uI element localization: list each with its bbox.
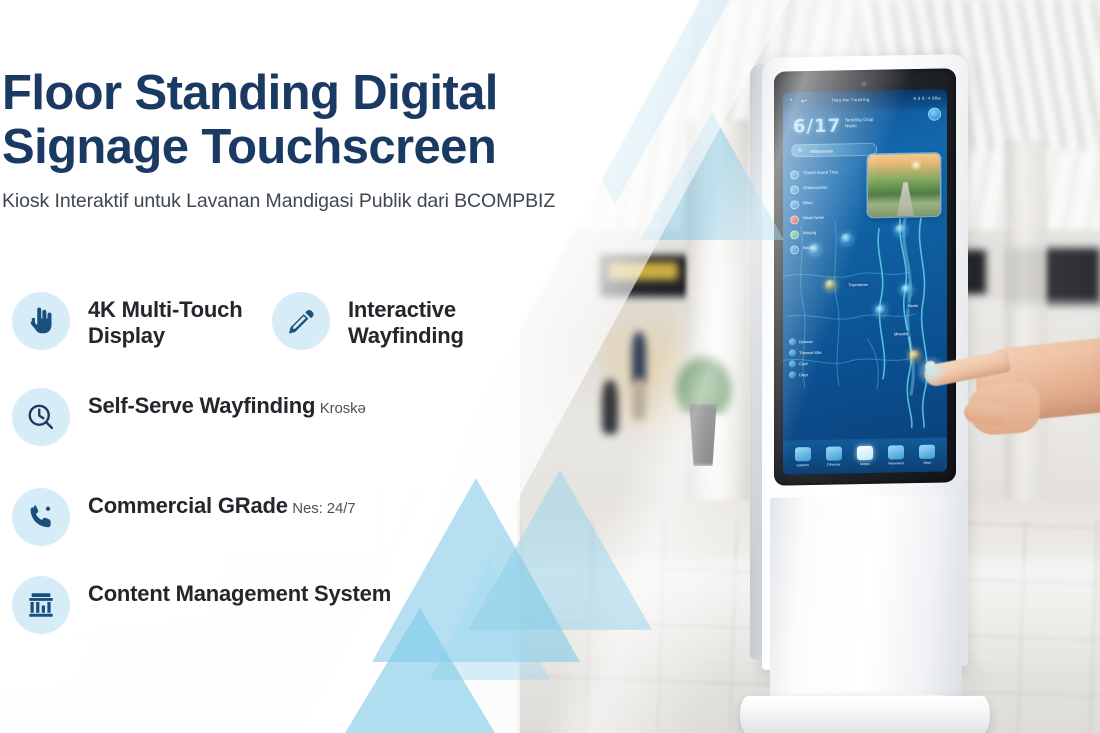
feature-title-line2: Wayfinding (348, 323, 464, 348)
feature-item-content-management-system[interactable]: Content Management System (12, 576, 391, 634)
page-subtitle: Kiosk Interaktif untuk Lavanan Mandigasi… (2, 190, 612, 213)
feature-title: Interactive Wayfinding (348, 297, 464, 348)
pencil-icon (272, 292, 330, 350)
touch-hand-icon (12, 292, 70, 350)
feature-title: 4K Multi-Touch Display (88, 297, 242, 348)
feature-item-self-serve-wayfinding[interactable]: Self-Serve Wayfinding Kroskə (12, 388, 366, 446)
feature-subtitle: Kroskə (320, 400, 366, 417)
headline-line-1: Floor Standing Digital (2, 66, 498, 120)
bank-building-icon (12, 576, 70, 634)
phone-icon (12, 488, 70, 546)
feature-text: Self-Serve Wayfinding Kroskə (88, 388, 366, 419)
page-title: Floor Standing Digital Signage Touchscre… (2, 66, 602, 174)
feature-title-line1: Interactive (348, 297, 456, 322)
feature-item-interactive-wayfinding[interactable]: Interactive Wayfinding (272, 292, 464, 350)
feature-title: Commercial GRade (88, 493, 288, 518)
feature-text: Interactive Wayfinding (348, 292, 464, 349)
feature-title-line2: Display (88, 323, 165, 348)
feature-text: Commercial GRade Nes: 24/7 (88, 488, 356, 519)
banner-canvas: ‹ ↩ Tiwu Aw Tmwring 9 3 8 :4 08w 6/17 Se… (0, 0, 1100, 733)
feature-text: Content Management System (88, 576, 391, 607)
feature-title: Content Management System (88, 581, 391, 606)
headline-line-2: Signage Touchscreen (2, 120, 602, 174)
content-column: Floor Standing Digital Signage Touchscre… (0, 0, 620, 733)
clock-search-icon (12, 388, 70, 446)
feature-item-commercial-grade[interactable]: Commercial GRade Nes: 24/7 (12, 488, 356, 546)
feature-title-line1: 4K Multi-Touch (88, 297, 242, 322)
feature-item-multi-touch[interactable]: 4K Multi-Touch Display (12, 292, 242, 350)
feature-subtitle: Nes: 24/7 (292, 500, 355, 517)
feature-text: 4K Multi-Touch Display (88, 292, 242, 349)
feature-title: Self-Serve Wayfinding (88, 393, 315, 418)
